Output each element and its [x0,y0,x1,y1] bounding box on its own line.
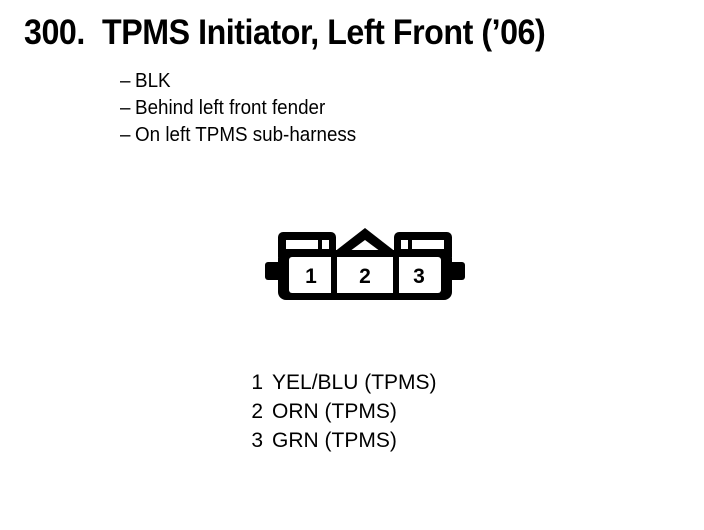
list-item: – On left TPMS sub-harness [120,122,609,149]
list-item-label: BLK [135,68,171,95]
legend-pin-number: 3 [200,426,272,455]
legend-circuit-label: GRN (TPMS) [272,426,397,455]
connector-number: 300. [24,14,85,52]
connector-left-latch-tab [265,262,280,280]
legend-pin-number: 1 [200,368,272,397]
connector-right-latch-tab [450,262,465,280]
connector-description-list: – BLK – Behind left front fender – On le… [120,68,640,149]
dash-icon: – [120,68,135,95]
table-row: 1 YEL/BLU (TPMS) [200,368,600,397]
table-row: 2 ORN (TPMS) [200,397,600,426]
list-item: – Behind left front fender [120,95,609,122]
table-row: 3 GRN (TPMS) [200,426,600,455]
legend-pin-number: 2 [200,397,272,426]
legend-circuit-label: YEL/BLU (TPMS) [272,368,437,397]
list-item-label: Behind left front fender [135,95,325,122]
cavity-2-number: 2 [359,265,371,288]
page-title: 300. TPMS Initiator, Left Front (’06) [24,14,684,56]
connector-cavity-2: 2 [337,257,393,293]
connector-cavity-3: 3 [399,257,441,293]
cavity-1-number: 1 [305,265,317,288]
cavity-3-number: 3 [413,265,425,288]
connector-cavity-1: 1 [289,257,331,293]
dash-icon: – [120,122,135,149]
connector-title: TPMS Initiator, Left Front (’06) [102,14,545,52]
pin-legend-table: 1 YEL/BLU (TPMS) 2 ORN (TPMS) 3 GRN (TPM… [200,368,600,455]
connector-diagram: 1 2 3 [260,218,470,310]
list-item: – BLK [120,68,609,95]
dash-icon: – [120,95,135,122]
list-item-label: On left TPMS sub-harness [135,122,356,149]
legend-circuit-label: ORN (TPMS) [272,397,397,426]
